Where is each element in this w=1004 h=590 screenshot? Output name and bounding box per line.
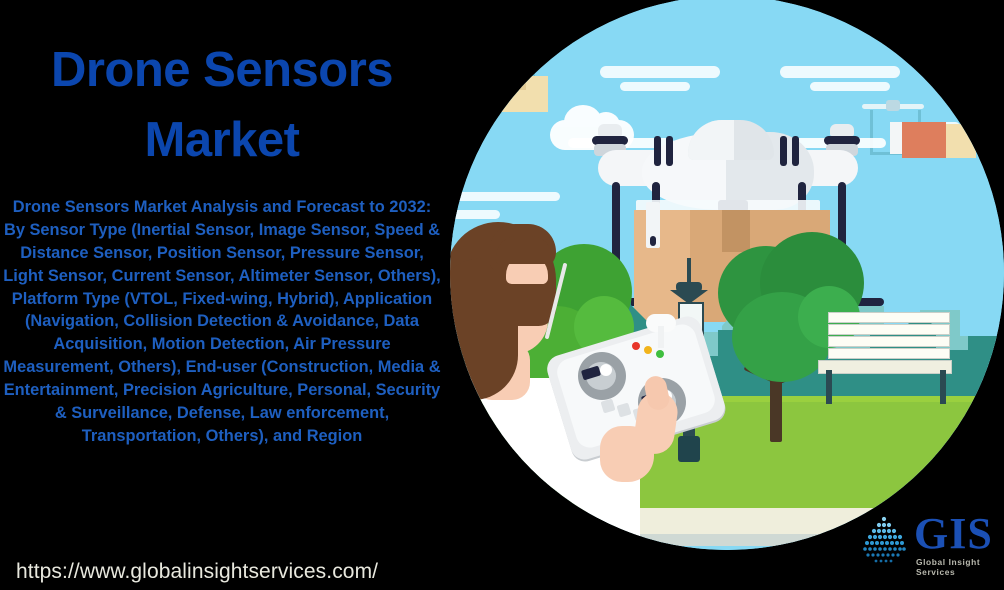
cloud-streak-icon bbox=[450, 210, 500, 219]
gis-dotted-pyramid-mark-icon bbox=[858, 514, 910, 566]
cloud-streak-icon bbox=[450, 192, 560, 201]
poster-canvas: Drone Sensors Market Drone Sensors Marke… bbox=[0, 0, 1004, 590]
cloud-streak-icon bbox=[600, 66, 720, 78]
website-url[interactable]: https://www.globalinsightservices.com/ bbox=[16, 560, 378, 584]
led-yellow bbox=[644, 346, 652, 354]
cloud-streak-icon bbox=[450, 116, 495, 125]
led-green bbox=[656, 350, 664, 358]
cloud-streak-icon bbox=[810, 82, 890, 91]
led-red bbox=[632, 342, 640, 350]
gis-tagline: Global Insight Services bbox=[916, 557, 1004, 577]
report-subtitle: Drone Sensors Market Analysis and Foreca… bbox=[2, 196, 442, 448]
cloud-streak-icon bbox=[620, 82, 690, 91]
scene-circle bbox=[450, 0, 1004, 550]
page-title: Drone Sensors Market bbox=[0, 36, 444, 175]
illustration bbox=[450, 0, 1004, 554]
gis-wordmark: GIS bbox=[914, 512, 993, 556]
cloud-streak-icon bbox=[780, 66, 900, 78]
gis-logo: GIS Global Insight Services bbox=[858, 512, 1004, 574]
text-column: Drone Sensors Market Drone Sensors Marke… bbox=[0, 0, 444, 590]
